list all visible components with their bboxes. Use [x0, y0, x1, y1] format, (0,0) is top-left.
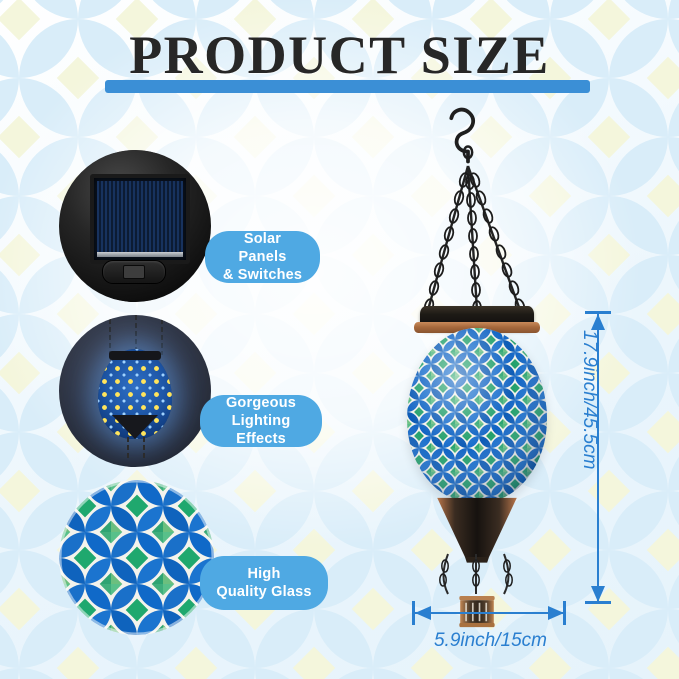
solar-busbar — [97, 252, 183, 257]
height-tick-bottom — [585, 601, 611, 604]
s-hook-icon — [443, 102, 493, 166]
feature-label-text: Gorgeous Lighting Effects — [216, 394, 306, 448]
lit-basket-chain-right — [143, 437, 145, 461]
width-tick-right — [563, 601, 566, 625]
width-arrow-left — [415, 606, 431, 620]
solar-panel-photo — [59, 150, 211, 302]
height-arrow-top — [591, 314, 605, 330]
mosaic-glass-globe — [407, 328, 547, 503]
lit-basket-chain-left — [127, 437, 129, 461]
power-switch — [102, 260, 166, 284]
solar-panel-cell-array — [90, 174, 190, 264]
header: PRODUCT SIZE — [0, 24, 679, 96]
solar-housing — [60, 150, 210, 302]
product-photo — [380, 100, 610, 630]
width-label: 5.9inch/15cm — [413, 630, 568, 652]
feature-label-quality-glass: High Quality Glass — [200, 556, 328, 610]
height-arrow-bottom — [591, 586, 605, 602]
feature-label-solar-panels: Solar Panels & Switches — [205, 231, 320, 283]
infographic-canvas: PRODUCT SIZE Solar Panels & Switches — [0, 0, 679, 679]
globe-mosaic-tiles — [407, 328, 547, 503]
feature-label-text: High Quality Glass — [216, 565, 311, 601]
height-label: 17.9inch/45.5cm — [578, 330, 600, 469]
lit-lantern-photo — [59, 315, 211, 467]
width-line — [413, 612, 565, 614]
width-arrow-right — [548, 606, 564, 620]
page-title: PRODUCT SIZE — [0, 24, 679, 86]
feature-label-text: Solar Panels & Switches — [221, 230, 304, 284]
mosaic-glass-closeup-photo — [59, 480, 214, 635]
lit-chain-mid — [135, 315, 137, 349]
switch-toggle — [123, 265, 145, 279]
lit-lantern-cone — [112, 415, 158, 439]
feature-label-lighting-effects: Gorgeous Lighting Effects — [200, 395, 322, 447]
solar-cell-stripes — [97, 181, 183, 257]
lit-lantern-lid — [109, 351, 161, 360]
mosaic-tile-pattern — [59, 480, 214, 635]
